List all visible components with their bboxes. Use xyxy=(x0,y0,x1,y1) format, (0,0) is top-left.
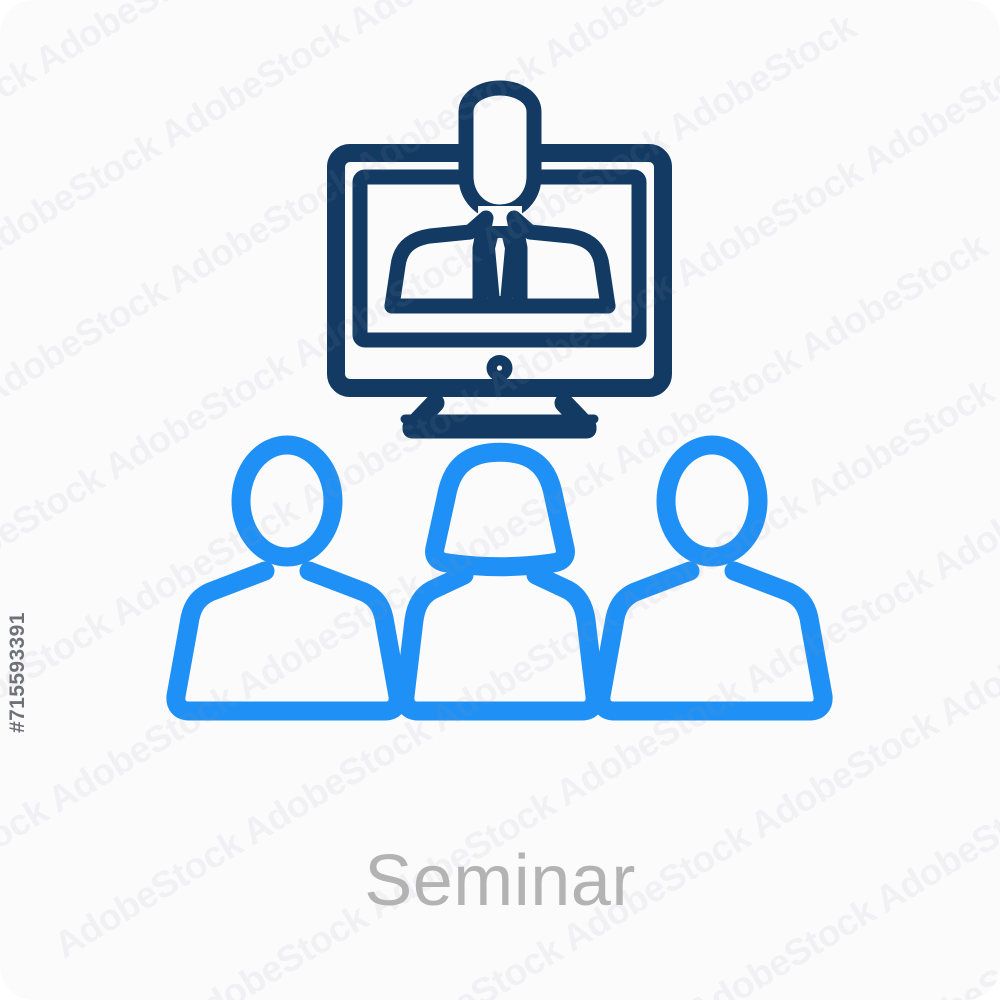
preview-card: AdobeStock AdobeStock AdobeStock AdobeSt… xyxy=(0,0,1000,1000)
stock-image-preview: AdobeStock AdobeStock AdobeStock AdobeSt… xyxy=(0,0,1000,1000)
presenter-right-shoulder xyxy=(514,218,608,306)
audience-right-body xyxy=(601,571,823,711)
audience-right-head xyxy=(666,445,758,557)
audience-center-head xyxy=(435,452,566,567)
webcam-dot-center xyxy=(497,365,502,370)
asset-id-text: #715593391 xyxy=(6,612,29,733)
audience-person-center xyxy=(405,452,595,711)
icon-caption: Seminar xyxy=(0,845,1000,917)
audience-left-head xyxy=(241,445,333,557)
icon-label: Seminar xyxy=(364,841,636,921)
presenter-figure xyxy=(392,88,608,306)
audience-person-left xyxy=(176,445,398,711)
presenter-necktie xyxy=(489,232,511,302)
presenter-left-shoulder xyxy=(392,218,486,306)
asset-id-vertical: #715593391 xyxy=(6,612,30,733)
audience-person-right xyxy=(601,445,823,711)
audience-center-body xyxy=(405,575,595,711)
audience-left-body xyxy=(176,571,398,711)
